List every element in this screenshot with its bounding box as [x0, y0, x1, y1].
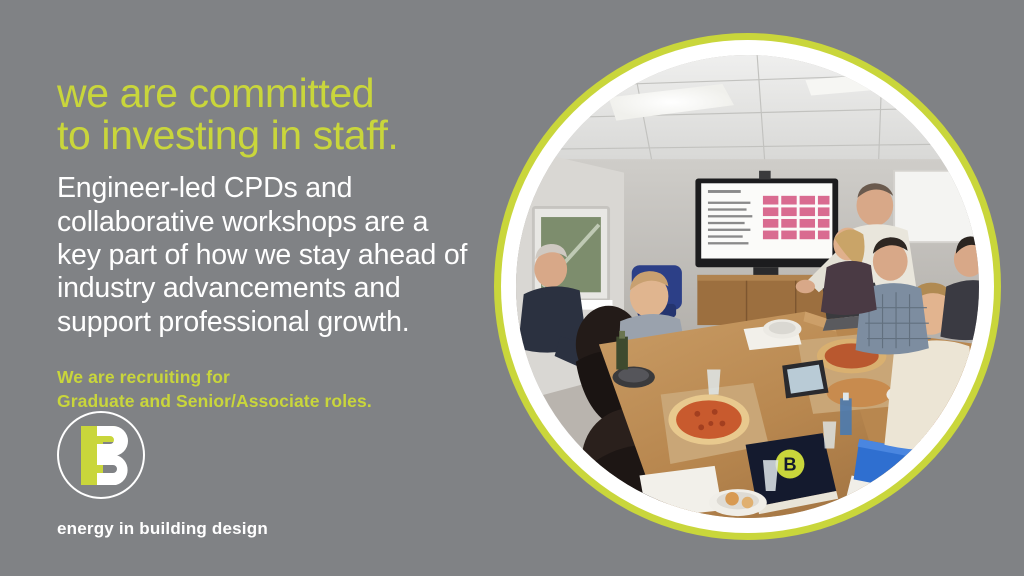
logo-mark [57, 411, 145, 499]
meeting-photo-illustration: B [516, 55, 979, 518]
svg-text:B: B [783, 454, 796, 475]
page-title: we are committed to investing in staff. [57, 72, 487, 156]
photo-ring-green: B [494, 33, 1001, 540]
text-column: we are committed to investing in staff. … [57, 72, 487, 413]
meeting-photo: B [516, 55, 979, 518]
logo-b-icon [57, 411, 145, 499]
logo-tagline: energy in building design [57, 499, 357, 539]
poster-canvas: we are committed to investing in staff. … [0, 0, 1024, 576]
brand-logo: energy in building design [57, 411, 357, 539]
body-paragraph: Engineer-led CPDs and collaborative work… [57, 156, 487, 339]
recruiting-callout: We are recruiting for Graduate and Senio… [57, 339, 487, 413]
photo-ring-white: B [501, 40, 994, 533]
